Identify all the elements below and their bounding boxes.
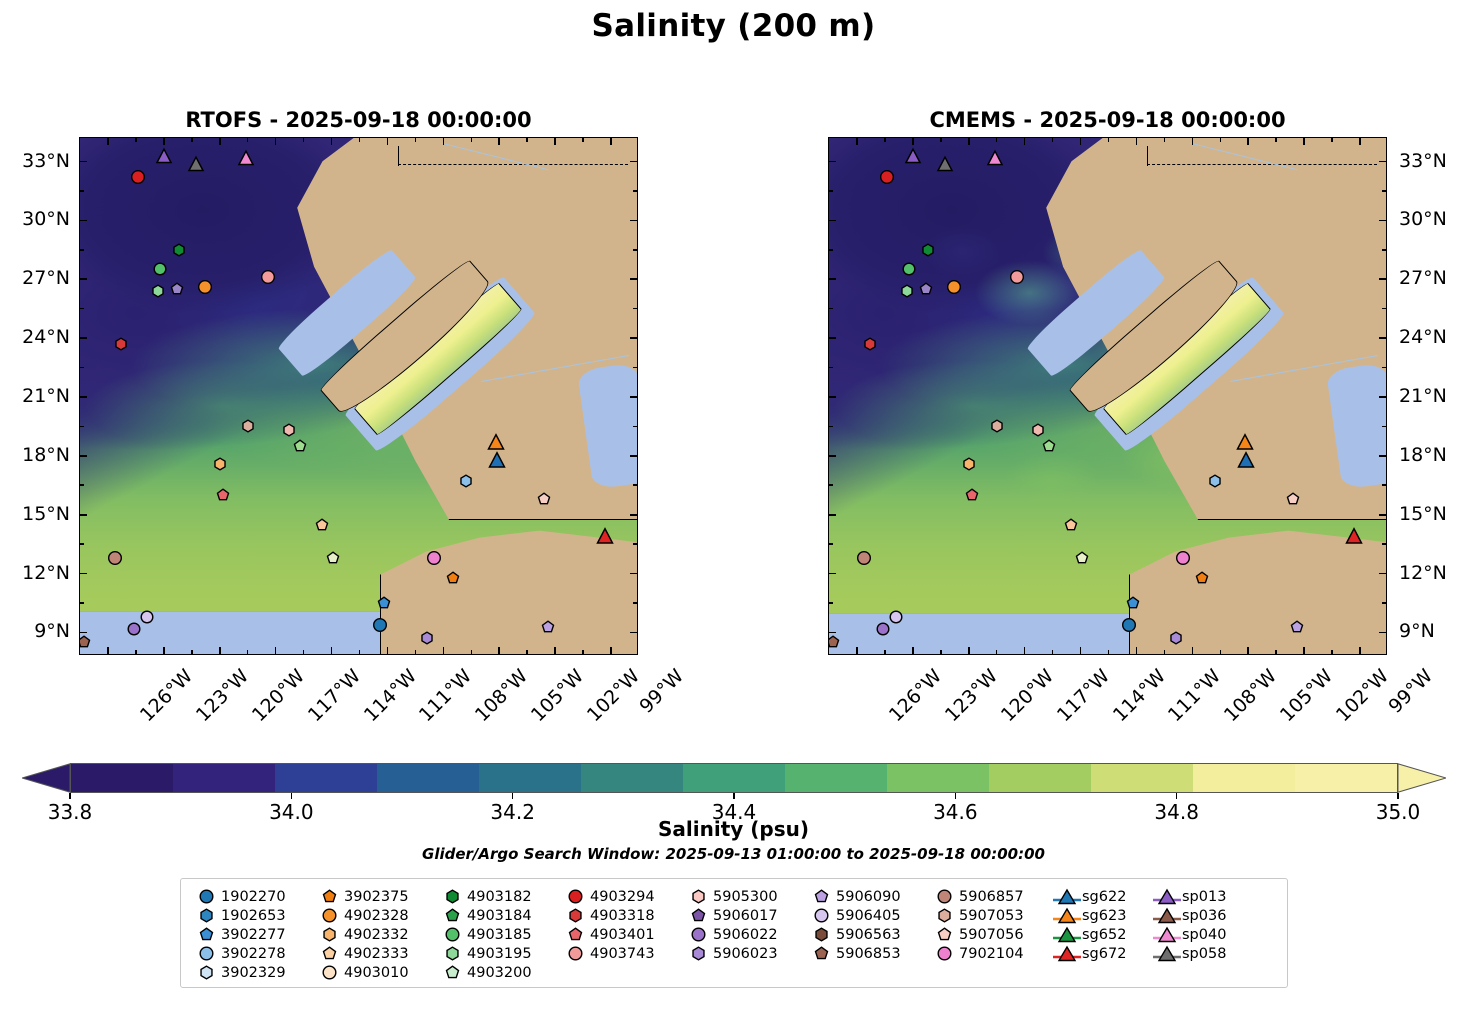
legend-marker-icon: [1152, 925, 1182, 944]
panel-title-rtofs: RTOFS - 2025-09-18 00:00:00: [79, 108, 638, 132]
marker-sp040[interactable]: [987, 150, 1003, 166]
marker-5905300[interactable]: [990, 419, 1004, 433]
legend-item-sp058[interactable]: sp058: [1152, 944, 1252, 963]
marker-sg622[interactable]: [1238, 451, 1255, 468]
colorbar-tick: [291, 793, 292, 799]
search-window-note: Glider/Argo Search Window: 2025-09-13 01…: [0, 845, 1467, 863]
marker-4903185[interactable]: [902, 262, 916, 276]
marker-5906022[interactable]: [127, 622, 141, 636]
lon-tick-label: 99°W: [635, 665, 688, 718]
legend-column: 49031824903184490318549031954903200: [437, 887, 560, 982]
legend-column: 5906857590705359070567902104: [929, 887, 1052, 982]
marker-5906405[interactable]: [889, 610, 903, 624]
lat-tick-label: 30°N: [1399, 208, 1447, 230]
legend-label: 5906022: [713, 927, 778, 943]
marker-4903195[interactable]: [151, 284, 165, 298]
observation-markers-rtofs[interactable]: [80, 138, 637, 654]
legend-label: 4902333: [344, 946, 409, 962]
legend-marker-icon: [929, 887, 959, 906]
legend-column: 19022701902653390227739022783902329: [191, 887, 314, 982]
marker-5906023[interactable]: [1169, 631, 1183, 645]
legend-item-5906023[interactable]: 5906023: [683, 944, 806, 963]
marker-4903318[interactable]: [863, 337, 877, 351]
colorbar-segment: [887, 764, 989, 792]
legend-marker-icon: [1052, 944, 1082, 963]
legend-item-sp040[interactable]: sp040: [1152, 925, 1252, 944]
lon-tick-label: 102°W: [583, 665, 644, 726]
marker-5906857[interactable]: [857, 550, 872, 565]
marker-5907056[interactable]: [537, 492, 551, 506]
legend-label: 4903743: [590, 946, 655, 962]
marker-4902328[interactable]: [197, 280, 212, 295]
legend-item-5907053[interactable]: 5907053: [929, 906, 1052, 925]
legend-column: 5905300590601759060225906023: [683, 887, 806, 982]
legend-column: 5906090590640559065635906853: [806, 887, 929, 982]
legend-column: 4903294490331849034014903743: [560, 887, 683, 982]
legend-marker-icon: [437, 963, 467, 982]
legend-item-4902333[interactable]: 4902333: [314, 944, 437, 963]
marker-4903185[interactable]: [153, 262, 167, 276]
legend-marker-icon: [314, 906, 344, 925]
marker-5907056[interactable]: [1286, 492, 1300, 506]
colorbar-segment: [479, 764, 581, 792]
legend-marker-icon: [1052, 887, 1082, 906]
marker-4902332[interactable]: [962, 457, 976, 471]
legend-item-sg623[interactable]: sg623: [1052, 906, 1152, 925]
marker-4903195[interactable]: [900, 284, 914, 298]
colorbar-extend-min: [22, 763, 70, 793]
legend-marker-icon: [191, 925, 221, 944]
lon-tick-label: 105°W: [1276, 665, 1337, 726]
marker-5906405[interactable]: [140, 610, 154, 624]
legend-marker-icon: [437, 944, 467, 963]
marker-5907053[interactable]: [282, 423, 296, 437]
legend-label: 4903294: [590, 889, 655, 905]
lat-tick-label: 15°N: [1399, 503, 1447, 525]
lon-tick-label: 99°W: [1384, 665, 1437, 718]
marker-5906853[interactable]: [828, 635, 840, 649]
marker-5906017[interactable]: [170, 282, 184, 296]
legend-item-4902328[interactable]: 4902328: [314, 906, 437, 925]
legend-column: sp013sp036sp040sp058: [1152, 887, 1252, 982]
legend-marker-icon: [929, 925, 959, 944]
colorbar-tick: [955, 793, 956, 799]
legend-marker-icon: [929, 944, 959, 963]
legend-item-4903200[interactable]: 4903200: [437, 963, 560, 982]
marker-4902333[interactable]: [1064, 518, 1078, 532]
lat-tick-label: 18°N: [1399, 444, 1447, 466]
legend-marker-icon: [1152, 944, 1182, 963]
lon-tick-label: 111°W: [1164, 665, 1225, 726]
legend-item-4903195[interactable]: 4903195: [437, 944, 560, 963]
legend-label: 1902653: [221, 908, 286, 924]
marker-3902278[interactable]: [459, 474, 473, 488]
marker-5906017[interactable]: [919, 282, 933, 296]
legend-item-5906090[interactable]: 5906090: [806, 887, 929, 906]
marker-5905300[interactable]: [241, 419, 255, 433]
lat-tick-label: 24°N: [0, 326, 70, 348]
legend-marker-icon: [1152, 906, 1182, 925]
lon-tick-label: 117°W: [1053, 665, 1114, 726]
legend-marker-icon: [437, 925, 467, 944]
legend-marker-icon: [191, 887, 221, 906]
marker-5906090[interactable]: [541, 620, 555, 634]
marker-7902104[interactable]: [427, 550, 442, 565]
legend-label: 4903318: [590, 908, 655, 924]
lat-tick-label: 12°N: [0, 562, 70, 584]
legend-label: 4902328: [344, 908, 409, 924]
colorbar-segment: [1295, 764, 1397, 792]
legend-label: 4903010: [344, 965, 409, 981]
colorbar-segment: [173, 764, 275, 792]
lat-tick-label: 15°N: [0, 503, 70, 525]
legend-item-7902104[interactable]: 7902104: [929, 944, 1052, 963]
legend-item-sp036[interactable]: sp036: [1152, 906, 1252, 925]
legend-marker-icon: [314, 925, 344, 944]
legend-label: 3902278: [221, 946, 286, 962]
legend-item-5906563[interactable]: 5906563: [806, 925, 929, 944]
lat-tick-label: 27°N: [1399, 267, 1447, 289]
lat-tick-label: 9°N: [1399, 620, 1435, 642]
lon-tick-label: 114°W: [359, 665, 420, 726]
legend-label: sp058: [1182, 946, 1226, 962]
marker-4903318[interactable]: [114, 337, 128, 351]
marker-4903010[interactable]: [326, 551, 340, 565]
marker-4903743[interactable]: [261, 270, 276, 285]
marker-4903010[interactable]: [1075, 551, 1089, 565]
marker-1902270[interactable]: [372, 617, 387, 632]
observation-markers-cmems[interactable]: [829, 138, 1386, 654]
colorbar-tick: [1397, 793, 1398, 799]
lat-tick-label: 30°N: [0, 208, 70, 230]
lon-tick-label: 120°W: [248, 665, 309, 726]
colorbar-title: Salinity (psu): [0, 817, 1467, 841]
legend-grid: 1902270190265339022773902278390232939023…: [191, 887, 1252, 982]
marker-4903294[interactable]: [879, 170, 894, 185]
lon-tick-label: 123°W: [941, 665, 1002, 726]
marker-4902328[interactable]: [946, 280, 961, 295]
lat-tick-label: 18°N: [0, 444, 70, 466]
legend-label: 3902329: [221, 965, 286, 981]
marker-sp013[interactable]: [905, 148, 921, 164]
colorbar-segment: [785, 764, 887, 792]
marker-4903182[interactable]: [172, 243, 186, 257]
legend-label: 5906090: [836, 889, 901, 905]
marker-1902270[interactable]: [1121, 617, 1136, 632]
legend-label: 5906857: [959, 889, 1024, 905]
legend-label: 7902104: [959, 946, 1024, 962]
colorbar-extend-max: [1398, 763, 1446, 793]
marker-sg623[interactable]: [1236, 434, 1253, 451]
colorbar-tick: [1176, 793, 1177, 799]
legend-marker-icon: [314, 887, 344, 906]
legend-label: 5907056: [959, 927, 1024, 943]
colorbar-segment: [989, 764, 1091, 792]
marker-3902375[interactable]: [446, 571, 460, 585]
marker-4902332[interactable]: [213, 457, 227, 471]
legend-marker-icon: [314, 963, 344, 982]
legend-marker-icon: [683, 925, 713, 944]
lon-tick-label: 105°W: [527, 665, 588, 726]
marker-3902278[interactable]: [1208, 474, 1222, 488]
lon-tick-label: 114°W: [1108, 665, 1169, 726]
legend-item-5906022[interactable]: 5906022: [683, 925, 806, 944]
marker-3902277[interactable]: [377, 596, 391, 610]
marker-5906090[interactable]: [1290, 620, 1304, 634]
lat-tick-label: 21°N: [0, 385, 70, 407]
legend-item-3902278[interactable]: 3902278: [191, 944, 314, 963]
lon-tick-label: 120°W: [997, 665, 1058, 726]
map-panel-cmems[interactable]: [828, 137, 1387, 655]
marker-sg672[interactable]: [1346, 528, 1363, 545]
marker-5906022[interactable]: [876, 622, 890, 636]
legend-marker-icon: [191, 944, 221, 963]
colorbar[interactable]: 33.834.034.234.434.634.835.0: [22, 760, 1446, 800]
lon-tick-label: 126°W: [885, 665, 946, 726]
colorbar-tick: [512, 793, 513, 799]
colorbar-segment: [1193, 764, 1295, 792]
marker-4903182[interactable]: [921, 243, 935, 257]
colorbar-segment: [581, 764, 683, 792]
marker-sp040[interactable]: [238, 150, 254, 166]
legend-item-5906017[interactable]: 5906017: [683, 906, 806, 925]
marker-sp058[interactable]: [188, 156, 204, 172]
lat-tick-label: 33°N: [0, 150, 70, 172]
legend-label: sg622: [1082, 889, 1126, 905]
legend-item-4902332[interactable]: 4902332: [314, 925, 437, 944]
legend-marker-icon: [683, 944, 713, 963]
lat-tick-label: 27°N: [0, 267, 70, 289]
figure-title: Salinity (200 m): [0, 8, 1467, 44]
legend-item-sg672[interactable]: sg672: [1052, 944, 1152, 963]
lon-tick-label: 117°W: [304, 665, 365, 726]
legend-column: sg622sg623sg652sg672: [1052, 887, 1152, 982]
legend-item-5906857[interactable]: 5906857: [929, 887, 1052, 906]
legend-item-4903743[interactable]: 4903743: [560, 944, 683, 963]
legend-item-4903182[interactable]: 4903182: [437, 887, 560, 906]
legend-label: 3902277: [221, 927, 286, 943]
legend-marker-icon: [806, 925, 836, 944]
marker-3902375[interactable]: [1195, 571, 1209, 585]
legend-marker-icon: [683, 887, 713, 906]
marker-4903200[interactable]: [293, 439, 307, 453]
legend-item-3902375[interactable]: 3902375: [314, 887, 437, 906]
colorbar-tick: [733, 793, 734, 799]
legend-marker-icon: [1152, 887, 1182, 906]
marker-4903401[interactable]: [216, 488, 230, 502]
legend-label: sg623: [1082, 908, 1126, 924]
legend-marker-icon: [560, 944, 590, 963]
legend-marker-icon: [1052, 925, 1082, 944]
legend-label: 5905300: [713, 889, 778, 905]
colorbar-segment: [71, 764, 173, 792]
legend-marker-icon: [806, 906, 836, 925]
legend-item-5907056[interactable]: 5907056: [929, 925, 1052, 944]
legend-label: 4903185: [467, 927, 532, 943]
marker-5906857[interactable]: [108, 550, 123, 565]
legend-item-1902653[interactable]: 1902653: [191, 906, 314, 925]
marker-sp013[interactable]: [156, 148, 172, 164]
lon-tick-label: 102°W: [1332, 665, 1393, 726]
marker-5906023[interactable]: [420, 631, 434, 645]
legend-label: 4903200: [467, 965, 532, 981]
colorbar-gradient: [70, 763, 1398, 793]
legend-label: 5906023: [713, 946, 778, 962]
marker-4903743[interactable]: [1010, 270, 1025, 285]
marker-5906853[interactable]: [79, 635, 91, 649]
colorbar-tick: [69, 793, 70, 799]
legend-item-3902329[interactable]: 3902329: [191, 963, 314, 982]
legend-item-4903010[interactable]: 4903010: [314, 963, 437, 982]
lat-tick-label: 12°N: [1399, 562, 1447, 584]
lon-tick-label: 108°W: [1220, 665, 1281, 726]
marker-7902104[interactable]: [1176, 550, 1191, 565]
marker-sp058[interactable]: [937, 156, 953, 172]
lat-tick-label: 24°N: [1399, 326, 1447, 348]
legend-label: sp036: [1182, 908, 1226, 924]
legend-label: 1902270: [221, 889, 286, 905]
colorbar-segment: [1091, 764, 1193, 792]
legend-item-4903184[interactable]: 4903184: [437, 906, 560, 925]
legend-marker-icon: [560, 887, 590, 906]
lat-tick-label: 33°N: [1399, 150, 1447, 172]
legend-item-3902277[interactable]: 3902277: [191, 925, 314, 944]
legend-label: 4903184: [467, 908, 532, 924]
legend-label: 5906853: [836, 946, 901, 962]
lon-tick-label: 126°W: [136, 665, 197, 726]
colorbar-segment: [377, 764, 479, 792]
legend-item-4903318[interactable]: 4903318: [560, 906, 683, 925]
legend-item-sg652[interactable]: sg652: [1052, 925, 1152, 944]
legend-label: 5907053: [959, 908, 1024, 924]
legend-label: sp013: [1182, 889, 1226, 905]
legend-item-4903185[interactable]: 4903185: [437, 925, 560, 944]
legend-marker-icon: [1052, 906, 1082, 925]
legend-marker-icon: [191, 963, 221, 982]
legend-item-4903401[interactable]: 4903401: [560, 925, 683, 944]
legend-marker-icon: [560, 925, 590, 944]
legend-label: sg652: [1082, 927, 1126, 943]
legend-label: 4902332: [344, 927, 409, 943]
legend-marker-icon: [560, 906, 590, 925]
legend-marker-icon: [437, 906, 467, 925]
legend-marker-icon: [314, 944, 344, 963]
marker-3902277[interactable]: [1126, 596, 1140, 610]
legend-marker-icon: [929, 906, 959, 925]
lat-tick-label: 21°N: [1399, 385, 1447, 407]
colorbar-segment: [683, 764, 785, 792]
marker-4903200[interactable]: [1042, 439, 1056, 453]
legend-item-5905300[interactable]: 5905300: [683, 887, 806, 906]
legend-item-4903294[interactable]: 4903294: [560, 887, 683, 906]
legend-label: 5906563: [836, 927, 901, 943]
legend-marker-icon: [806, 887, 836, 906]
legend-marker-icon: [806, 944, 836, 963]
marker-4903294[interactable]: [130, 170, 145, 185]
marker-5907053[interactable]: [1031, 423, 1045, 437]
legend-item-5906405[interactable]: 5906405: [806, 906, 929, 925]
legend-column: 39023754902328490233249023334903010: [314, 887, 437, 982]
marker-4903401[interactable]: [965, 488, 979, 502]
marker-4902333[interactable]: [315, 518, 329, 532]
legend-label: 3902375: [344, 889, 409, 905]
legend-label: 4903195: [467, 946, 532, 962]
colorbar-segment: [275, 764, 377, 792]
legend-label: 4903401: [590, 927, 655, 943]
lon-tick-label: 111°W: [415, 665, 476, 726]
lon-tick-label: 123°W: [192, 665, 253, 726]
marker-sg623[interactable]: [487, 434, 504, 451]
legend-marker-icon: [437, 887, 467, 906]
lon-tick-label: 108°W: [471, 665, 532, 726]
panel-title-cmems: CMEMS - 2025-09-18 00:00:00: [828, 108, 1387, 132]
legend-label: sg672: [1082, 946, 1126, 962]
legend-item-1902270[interactable]: 1902270: [191, 887, 314, 906]
legend-item-sp013[interactable]: sp013: [1152, 887, 1252, 906]
legend-marker-icon: [191, 906, 221, 925]
marker-sg672[interactable]: [597, 528, 614, 545]
map-panel-rtofs[interactable]: [79, 137, 638, 655]
legend-item-5906853[interactable]: 5906853: [806, 944, 929, 963]
legend[interactable]: 1902270190265339022773902278390232939023…: [180, 878, 1288, 988]
marker-sg622[interactable]: [489, 451, 506, 468]
lat-tick-label: 9°N: [0, 620, 70, 642]
legend-marker-icon: [683, 906, 713, 925]
legend-label: 4903182: [467, 889, 532, 905]
legend-label: 5906017: [713, 908, 778, 924]
legend-label: 5906405: [836, 908, 901, 924]
legend-item-sg622[interactable]: sg622: [1052, 887, 1152, 906]
legend-label: sp040: [1182, 927, 1226, 943]
